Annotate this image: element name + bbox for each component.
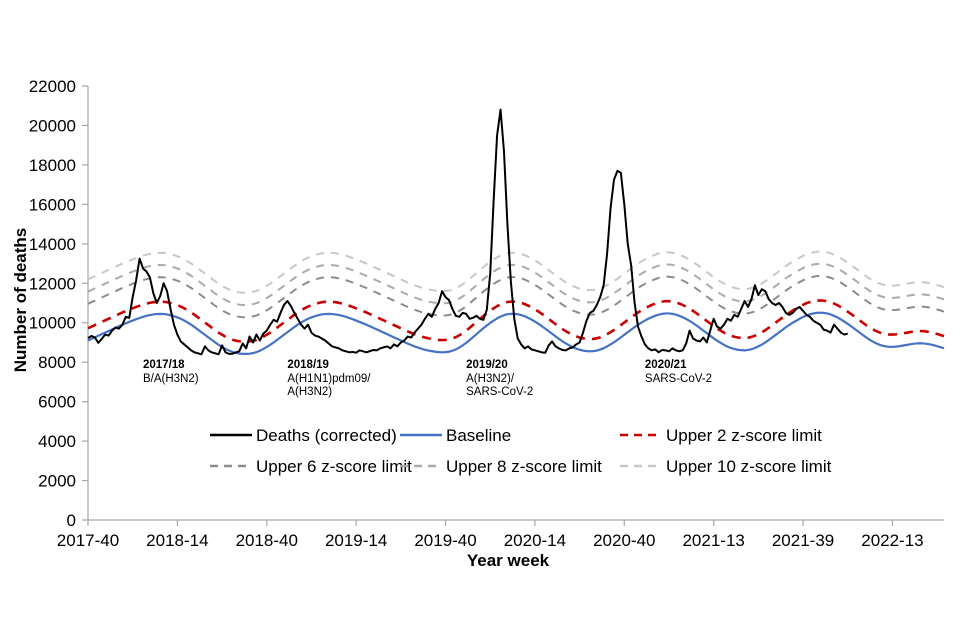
season-annotation-a2018: 2018/19A(H1N1)pdm09/A(H3N2) (287, 359, 371, 398)
y-tick-label: 0 (67, 511, 76, 530)
annotation-title: 2020/21 (645, 359, 687, 371)
annotation-line: SARS-CoV-2 (645, 373, 712, 385)
epidemic-mortality-chart: 0200040006000800010000120001400016000180… (0, 0, 960, 640)
season-annotation-a2020: 2020/21SARS-CoV-2 (645, 359, 712, 385)
y-tick-label: 6000 (38, 393, 76, 412)
annotation-line: A(H3N2)/ (466, 373, 515, 385)
x-tick-labels: 2017-402018-142018-402019-142019-402020-… (57, 520, 924, 550)
legend-item-upper-10-z-score-limit[interactable]: Upper 10 z-score limit (620, 457, 832, 476)
x-tick-label: 2019-14 (325, 531, 387, 550)
x-tick-label: 2017-40 (57, 531, 119, 550)
season-annotation-a2019: 2019/20A(H3N2)/SARS-CoV-2 (466, 359, 533, 398)
axis-lines (88, 86, 944, 520)
legend-item-baseline[interactable]: Baseline (400, 426, 511, 445)
legend-group: Deaths (corrected)BaselineUpper 2 z-scor… (210, 426, 832, 476)
y-tick-label: 16000 (29, 195, 76, 214)
y-tick-label: 22000 (29, 77, 76, 96)
legend-item-upper-2-z-score-limit[interactable]: Upper 2 z-score limit (620, 426, 822, 445)
annotation-line: SARS-CoV-2 (466, 386, 533, 398)
annotations-group: 2017/18B/A(H3N2)2018/19A(H1N1)pdm09/A(H3… (143, 359, 712, 398)
series-line-deaths-corrected (88, 110, 848, 355)
y-tick-label: 10000 (29, 314, 76, 333)
annotation-line: B/A(H3N2) (143, 373, 199, 385)
y-tick-label: 2000 (38, 472, 76, 491)
x-tick-label: 2021-13 (682, 531, 744, 550)
legend-label: Upper 6 z-score limit (256, 457, 412, 476)
x-tick-label: 2020-14 (504, 531, 566, 550)
series-line-upper-10-z-score-limit (88, 252, 944, 293)
annotation-line: A(H3N2) (287, 386, 332, 398)
legend-label: Upper 10 z-score limit (666, 457, 832, 476)
legend-item-upper-6-z-score-limit[interactable]: Upper 6 z-score limit (210, 457, 412, 476)
legend-label: Deaths (corrected) (256, 426, 397, 445)
y-tick-label: 8000 (38, 353, 76, 372)
annotation-title: 2019/20 (466, 359, 508, 371)
y-tick-label: 12000 (29, 274, 76, 293)
series-group (88, 110, 944, 355)
legend-label: Upper 2 z-score limit (666, 426, 822, 445)
y-tick-label: 20000 (29, 116, 76, 135)
y-tick-label: 4000 (38, 432, 76, 451)
annotation-title: 2017/18 (143, 359, 185, 371)
x-tick-label: 2021-39 (772, 531, 834, 550)
x-axis-title: Year week (467, 551, 550, 570)
chart-container: 0200040006000800010000120001400016000180… (0, 0, 960, 640)
y-tick-label: 14000 (29, 235, 76, 254)
x-tick-label: 2018-40 (236, 531, 298, 550)
season-annotation-a2017: 2017/18B/A(H3N2) (143, 359, 199, 385)
legend-item-upper-8-z-score-limit[interactable]: Upper 8 z-score limit (400, 457, 602, 476)
x-tick-label: 2019-40 (414, 531, 476, 550)
x-tick-label: 2018-14 (146, 531, 208, 550)
y-tick-label: 18000 (29, 156, 76, 175)
series-line-upper-8-z-score-limit (88, 264, 944, 305)
legend-label: Baseline (446, 426, 511, 445)
legend-label: Upper 8 z-score limit (446, 457, 602, 476)
x-tick-label: 2022-13 (861, 531, 923, 550)
y-tick-labels: 0200040006000800010000120001400016000180… (29, 77, 76, 530)
legend-item-deaths-corrected[interactable]: Deaths (corrected) (210, 426, 397, 445)
annotation-line: A(H1N1)pdm09/ (287, 373, 371, 385)
annotation-title: 2018/19 (287, 359, 329, 371)
x-tick-label: 2020-40 (593, 531, 655, 550)
y-axis-title: Number of deaths (11, 228, 30, 373)
